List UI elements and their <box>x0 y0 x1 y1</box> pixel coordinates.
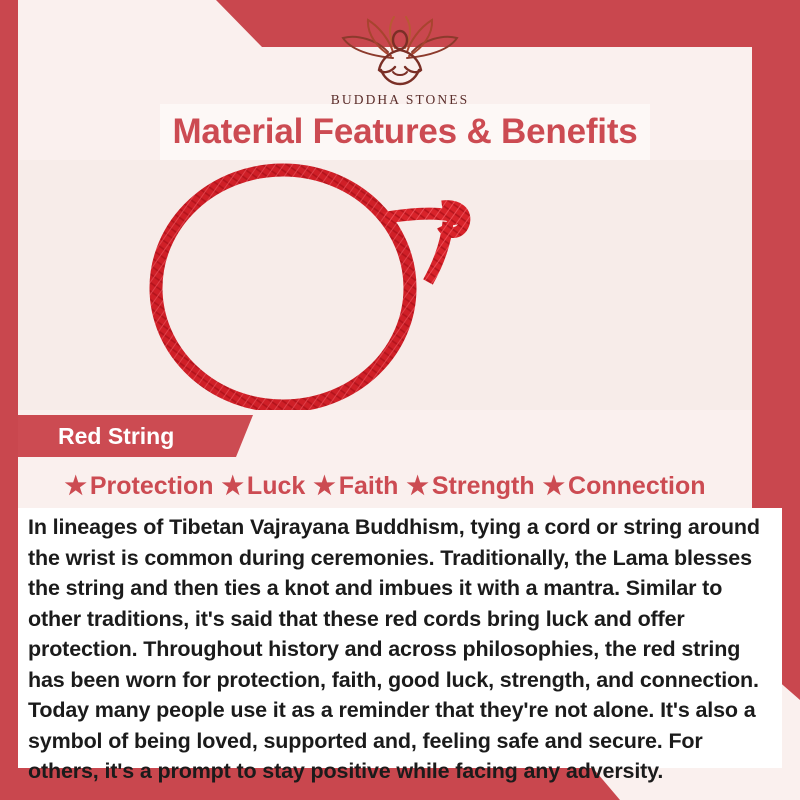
brand-logo: BUDDHA STONES <box>0 12 800 108</box>
page-title: Material Features & Benefits <box>160 104 650 160</box>
benefit-label: Luck <box>247 472 305 501</box>
red-string-bracelet-illustration <box>18 160 752 410</box>
benefit-label: Strength <box>432 472 535 501</box>
star-icon: ★ <box>222 474 244 499</box>
title-banner: Material Features & Benefits <box>160 104 650 160</box>
benefit-connection: ★ Connection <box>539 472 710 501</box>
description-text: In lineages of Tibetan Vajrayana Buddhis… <box>28 512 778 787</box>
product-image <box>18 160 752 410</box>
star-icon: ★ <box>543 474 565 499</box>
star-icon: ★ <box>406 474 428 499</box>
star-icon: ★ <box>313 474 335 499</box>
infographic-page: BUDDHA STONES Material Features & Benefi… <box>0 0 800 800</box>
description-panel: In lineages of Tibetan Vajrayana Buddhis… <box>18 508 782 768</box>
benefit-label: Connection <box>568 472 706 501</box>
left-red-banner <box>0 0 18 800</box>
benefit-strength: ★ Strength <box>402 472 538 501</box>
benefit-label: Protection <box>90 472 214 501</box>
benefit-protection: ★ Protection <box>60 472 217 501</box>
benefits-row: ★ Protection ★ Luck ★ Faith ★ Strength ★… <box>18 464 752 508</box>
star-icon: ★ <box>64 474 86 499</box>
benefit-luck: ★ Luck <box>218 472 310 501</box>
benefit-label: Faith <box>339 472 399 501</box>
lotus-meditation-icon <box>325 12 475 90</box>
material-label: Red String <box>58 415 174 457</box>
benefit-faith: ★ Faith <box>309 472 402 501</box>
